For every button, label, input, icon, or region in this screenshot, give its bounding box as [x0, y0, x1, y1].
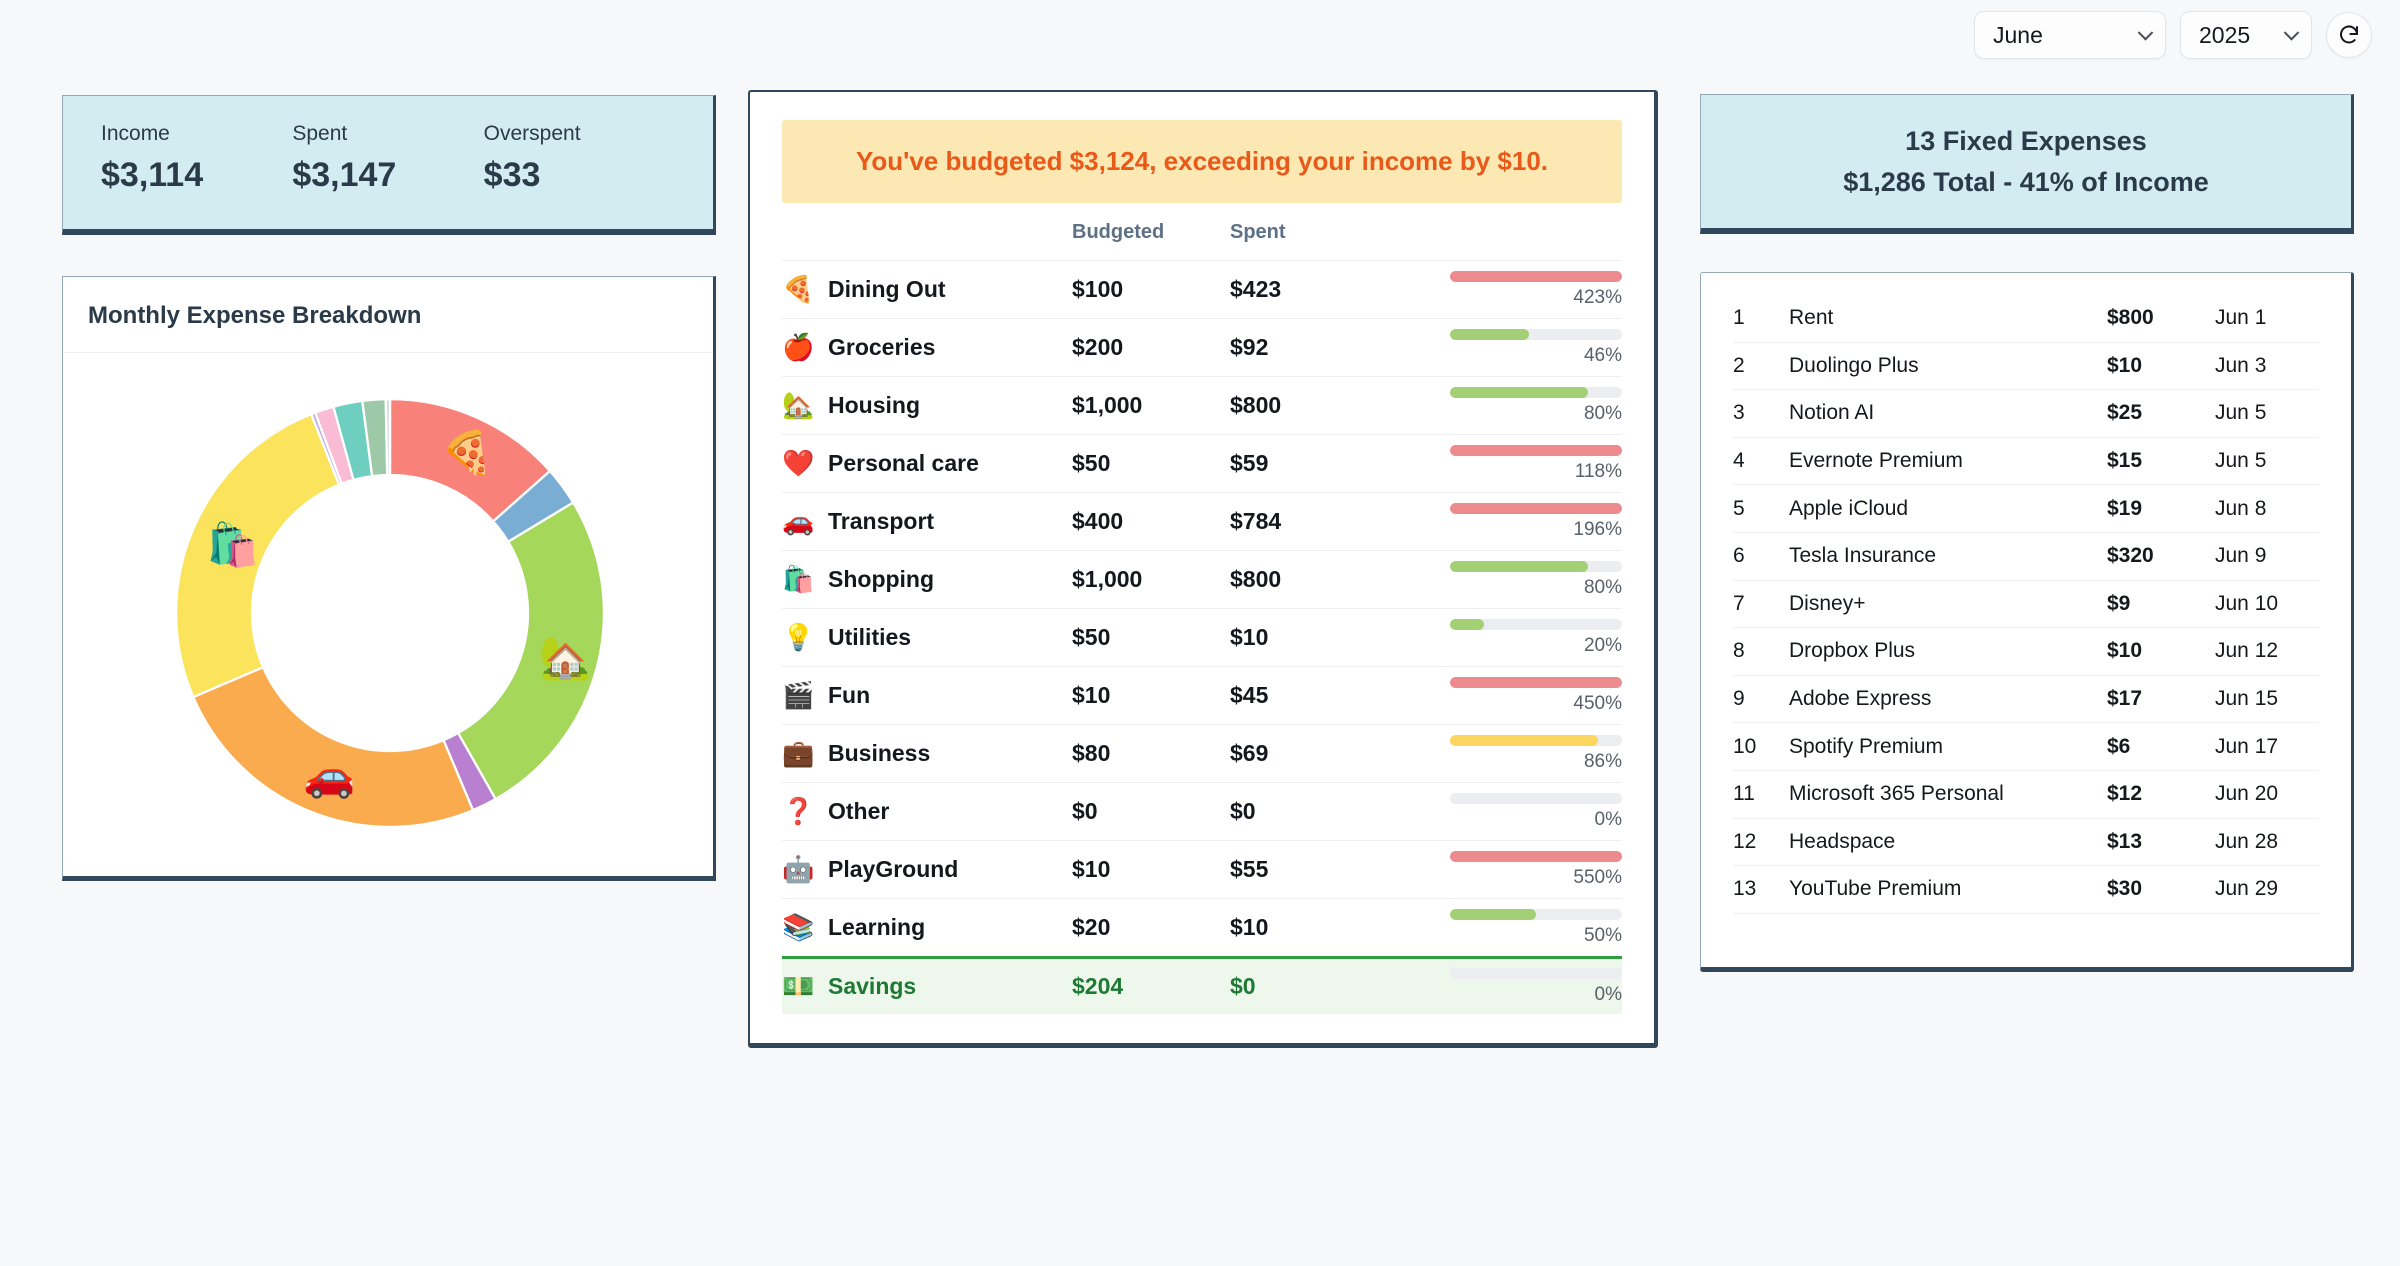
fixed-expense-index: 13: [1733, 877, 1789, 901]
category-name: Dining Out: [828, 276, 1072, 303]
budget-panel: You've budgeted $3,124, exceeding your i…: [748, 90, 1658, 1048]
fixed-expense-index: 5: [1733, 497, 1789, 521]
budgeted-amount: $50: [1072, 624, 1230, 651]
fixed-expense-date: Jun 29: [2215, 877, 2319, 901]
budget-row[interactable]: 📚Learning$20$1050%: [782, 898, 1622, 956]
expense-breakdown-card: Monthly Expense Breakdown 🍕 🏡 🚗 🛍️: [62, 276, 716, 881]
fixed-expense-row[interactable]: 13YouTube Premium$30Jun 29: [1733, 866, 2319, 914]
summary-card: Income $3,114 Spent $3,147 Overspent $33: [62, 95, 716, 235]
summary-spent-value: $3,147: [292, 156, 483, 195]
fixed-expense-date: Jun 17: [2215, 735, 2319, 759]
progress-percent: 46%: [1584, 345, 1622, 367]
fixed-expense-amount: $19: [2107, 497, 2215, 521]
category-icon: 🎬: [782, 680, 814, 710]
category-icon: 🍎: [782, 332, 814, 362]
budget-row[interactable]: 🍎Groceries$200$9246%: [782, 318, 1622, 376]
summary-spent-label: Spent: [292, 118, 483, 150]
fixed-expense-index: 2: [1733, 354, 1789, 378]
budgeted-amount: $10: [1072, 682, 1230, 709]
progress-bar: [1450, 619, 1622, 630]
progress-bar: [1450, 329, 1622, 340]
progress-percent: 118%: [1575, 461, 1622, 483]
spent-amount: $45: [1230, 682, 1388, 709]
progress-bar-fill: [1450, 619, 1484, 630]
fixed-expense-row[interactable]: 4Evernote Premium$15Jun 5: [1733, 438, 2319, 486]
budget-row-list: 🍕Dining Out$100$423423%🍎Groceries$200$92…: [782, 260, 1622, 1014]
fixed-expense-amount: $10: [2107, 639, 2215, 663]
summary-overspent-label: Overspent: [484, 118, 675, 150]
category-name: Learning: [828, 914, 1072, 941]
fixed-expense-name: Dropbox Plus: [1789, 639, 2107, 663]
budget-row[interactable]: 🏡Housing$1,000$80080%: [782, 376, 1622, 434]
spent-amount: $423: [1230, 276, 1388, 303]
fixed-expense-name: Evernote Premium: [1789, 449, 2107, 473]
progress-bar-fill: [1450, 561, 1588, 572]
category-name: Transport: [828, 508, 1072, 535]
fixed-expense-date: Jun 5: [2215, 449, 2319, 473]
progress-bar-fill: [1450, 387, 1588, 398]
progress-bar-fill: [1450, 503, 1622, 514]
budget-row[interactable]: ❓Other$0$00%: [782, 782, 1622, 840]
fixed-expense-name: Notion AI: [1789, 401, 2107, 425]
fixed-expense-name: YouTube Premium: [1789, 877, 2107, 901]
progress-bar: [1450, 968, 1622, 979]
fixed-expense-amount: $13: [2107, 830, 2215, 854]
progress-bar-fill: [1450, 445, 1622, 456]
budgeted-amount: $100: [1072, 276, 1230, 303]
budget-row[interactable]: 🛍️Shopping$1,000$80080%: [782, 550, 1622, 608]
progress-percent: 80%: [1584, 403, 1622, 425]
fixed-expense-row[interactable]: 6Tesla Insurance$320Jun 9: [1733, 533, 2319, 581]
budgeted-amount: $204: [1072, 973, 1230, 1000]
progress-percent: 0%: [1595, 984, 1622, 1006]
progress-bar: [1450, 677, 1622, 688]
budget-row[interactable]: 🚗Transport$400$784196%: [782, 492, 1622, 550]
column-header-spent: Spent: [1230, 221, 1388, 244]
progress-percent: 80%: [1584, 577, 1622, 599]
fixed-expense-row[interactable]: 8Dropbox Plus$10Jun 12: [1733, 628, 2319, 676]
budgeted-amount: $20: [1072, 914, 1230, 941]
fixed-expense-amount: $15: [2107, 449, 2215, 473]
fixed-expenses-count: 13 Fixed Expenses: [1905, 126, 2147, 157]
fixed-expense-name: Spotify Premium: [1789, 735, 2107, 759]
budget-row[interactable]: 🎬Fun$10$45450%: [782, 666, 1622, 724]
category-icon: 🤖: [782, 854, 814, 884]
spent-amount: $59: [1230, 450, 1388, 477]
budget-row[interactable]: 🍕Dining Out$100$423423%: [782, 260, 1622, 318]
progress-bar-fill: [1450, 735, 1598, 746]
summary-income-label: Income: [101, 118, 292, 150]
progress-bar: [1450, 445, 1622, 456]
donut-label-shopping-icon: 🛍️: [207, 524, 259, 566]
progress-bar: [1450, 851, 1622, 862]
summary-overspent-value: $33: [484, 156, 675, 195]
budgeted-amount: $1,000: [1072, 392, 1230, 419]
spent-amount: $10: [1230, 624, 1388, 651]
category-icon: 💵: [782, 971, 814, 1001]
budgeted-amount: $10: [1072, 856, 1230, 883]
budgeted-amount: $1,000: [1072, 566, 1230, 593]
category-name: Savings: [828, 973, 1072, 1000]
fixed-expense-date: Jun 1: [2215, 306, 2319, 330]
progress-percent: 86%: [1584, 751, 1622, 773]
fixed-expense-index: 4: [1733, 449, 1789, 473]
category-name: Fun: [828, 682, 1072, 709]
chevron-down-icon: [2138, 25, 2154, 41]
fixed-expense-name: Apple iCloud: [1789, 497, 2107, 521]
fixed-expense-date: Jun 9: [2215, 544, 2319, 568]
category-icon: 🛍️: [782, 564, 814, 594]
fixed-expense-row[interactable]: 3Notion AI$25Jun 5: [1733, 390, 2319, 438]
progress-bar-fill: [1450, 851, 1622, 862]
category-name: Groceries: [828, 334, 1072, 361]
fixed-expense-amount: $9: [2107, 592, 2215, 616]
fixed-expense-index: 3: [1733, 401, 1789, 425]
progress-percent: 550%: [1573, 867, 1622, 889]
fixed-expense-row[interactable]: 5Apple iCloud$19Jun 8: [1733, 485, 2319, 533]
fixed-expense-date: Jun 3: [2215, 354, 2319, 378]
fixed-expense-index: 12: [1733, 830, 1789, 854]
fixed-expenses-summary: 13 Fixed Expenses $1,286 Total - 41% of …: [1700, 94, 2354, 234]
spent-amount: $0: [1230, 973, 1388, 1000]
budget-row[interactable]: 💼Business$80$6986%: [782, 724, 1622, 782]
donut-label-dining-out-icon: 🍕: [441, 432, 493, 474]
category-name: Personal care: [828, 450, 1072, 477]
fixed-expense-index: 1: [1733, 306, 1789, 330]
category-icon: 💼: [782, 738, 814, 768]
fixed-expense-amount: $800: [2107, 306, 2215, 330]
fixed-expense-date: Jun 28: [2215, 830, 2319, 854]
budgeted-amount: $0: [1072, 798, 1230, 825]
budget-row[interactable]: 💡Utilities$50$1020%: [782, 608, 1622, 666]
budget-table-header: Budgeted Spent: [782, 221, 1622, 260]
fixed-expense-name: Headspace: [1789, 830, 2107, 854]
progress-percent: 50%: [1584, 925, 1622, 947]
progress-percent: 450%: [1573, 693, 1622, 715]
progress-bar-fill: [1450, 909, 1536, 920]
donut-label-housing-icon: 🏡: [539, 637, 591, 679]
fixed-expense-date: Jun 15: [2215, 687, 2319, 711]
progress-bar: [1450, 793, 1622, 804]
spent-amount: $10: [1230, 914, 1388, 941]
progress-percent: 196%: [1573, 519, 1622, 541]
donut-slice: [386, 399, 390, 475]
fixed-expense-name: Disney+: [1789, 592, 2107, 616]
fixed-expense-date: Jun 8: [2215, 497, 2319, 521]
category-name: Housing: [828, 392, 1072, 419]
spent-amount: $55: [1230, 856, 1388, 883]
budgeted-amount: $400: [1072, 508, 1230, 535]
fixed-expense-name: Microsoft 365 Personal: [1789, 782, 2107, 806]
fixed-expense-row[interactable]: 2Duolingo Plus$10Jun 3: [1733, 343, 2319, 391]
budgeted-amount: $80: [1072, 740, 1230, 767]
column-header-budgeted: Budgeted: [1072, 221, 1230, 244]
budget-row[interactable]: 💵Savings$204$00%: [782, 956, 1622, 1014]
progress-bar-fill: [1450, 271, 1622, 282]
fixed-expense-index: 9: [1733, 687, 1789, 711]
budget-table: Budgeted Spent 🍕Dining Out$100$423423%🍎G…: [750, 221, 1654, 1014]
summary-income-value: $3,114: [101, 156, 292, 195]
fixed-expenses-row-list: 1Rent$800Jun 12Duolingo Plus$10Jun 33Not…: [1733, 295, 2319, 914]
donut-chart-svg: [160, 383, 620, 843]
fixed-expense-amount: $12: [2107, 782, 2215, 806]
progress-bar: [1450, 503, 1622, 514]
refresh-button[interactable]: [2326, 12, 2372, 58]
category-name: Utilities: [828, 624, 1072, 651]
fixed-expense-row[interactable]: 9Adobe Express$17Jun 15: [1733, 676, 2319, 724]
fixed-expense-index: 10: [1733, 735, 1789, 759]
year-select-value: 2025: [2199, 22, 2250, 49]
fixed-expense-row[interactable]: 10Spotify Premium$6Jun 17: [1733, 723, 2319, 771]
budget-alert-banner: You've budgeted $3,124, exceeding your i…: [782, 120, 1622, 203]
category-name: Shopping: [828, 566, 1072, 593]
category-icon: 🚗: [782, 506, 814, 536]
category-name: Business: [828, 740, 1072, 767]
fixed-expense-date: Jun 5: [2215, 401, 2319, 425]
summary-income: Income $3,114: [101, 118, 292, 195]
spent-amount: $69: [1230, 740, 1388, 767]
donut-slice: [193, 667, 473, 827]
fixed-expense-name: Duolingo Plus: [1789, 354, 2107, 378]
fixed-expense-amount: $10: [2107, 354, 2215, 378]
chevron-down-icon: [2284, 25, 2300, 41]
progress-bar: [1450, 271, 1622, 282]
fixed-expense-index: 6: [1733, 544, 1789, 568]
donut-chart: 🍕 🏡 🚗 🛍️: [63, 353, 717, 873]
category-icon: 📚: [782, 912, 814, 942]
category-icon: 🏡: [782, 390, 814, 420]
budget-row[interactable]: ❤️Personal care$50$59118%: [782, 434, 1622, 492]
progress-percent: 20%: [1584, 635, 1622, 657]
fixed-expenses-list: 1Rent$800Jun 12Duolingo Plus$10Jun 33Not…: [1700, 272, 2354, 972]
progress-bar: [1450, 387, 1622, 398]
progress-bar-fill: [1450, 677, 1622, 688]
spent-amount: $92: [1230, 334, 1388, 361]
year-select[interactable]: 2025: [2180, 11, 2312, 59]
fixed-expense-row[interactable]: 7Disney+$9Jun 10: [1733, 581, 2319, 629]
fixed-expense-amount: $17: [2107, 687, 2215, 711]
progress-percent: 0%: [1595, 809, 1622, 831]
fixed-expense-amount: $320: [2107, 544, 2215, 568]
summary-spent: Spent $3,147: [292, 118, 483, 195]
fixed-expense-row[interactable]: 12Headspace$13Jun 28: [1733, 819, 2319, 867]
fixed-expenses-total: $1,286 Total - 41% of Income: [1843, 167, 2209, 198]
fixed-expense-index: 8: [1733, 639, 1789, 663]
spent-amount: $0: [1230, 798, 1388, 825]
category-icon: 🍕: [782, 274, 814, 304]
fixed-expense-row[interactable]: 11Microsoft 365 Personal$12Jun 20: [1733, 771, 2319, 819]
category-name: Other: [828, 798, 1072, 825]
progress-bar-fill: [1450, 329, 1529, 340]
month-select-value: June: [1993, 22, 2043, 49]
category-icon: 💡: [782, 622, 814, 652]
spent-amount: $800: [1230, 566, 1388, 593]
toolbar: June 2025: [0, 0, 2400, 70]
month-select[interactable]: June: [1974, 11, 2166, 59]
summary-overspent: Overspent $33: [484, 118, 675, 195]
fixed-expense-index: 7: [1733, 592, 1789, 616]
progress-bar: [1450, 735, 1622, 746]
spent-amount: $784: [1230, 508, 1388, 535]
spent-amount: $800: [1230, 392, 1388, 419]
fixed-expense-date: Jun 12: [2215, 639, 2319, 663]
fixed-expense-row[interactable]: 1Rent$800Jun 1: [1733, 295, 2319, 343]
refresh-icon: [2337, 23, 2361, 47]
chart-title: Monthly Expense Breakdown: [63, 277, 713, 353]
fixed-expense-date: Jun 20: [2215, 782, 2319, 806]
budgeted-amount: $200: [1072, 334, 1230, 361]
donut-label-transport-icon: 🚗: [303, 755, 355, 797]
category-icon: ❤️: [782, 448, 814, 478]
progress-percent: 423%: [1573, 287, 1622, 309]
progress-bar: [1450, 561, 1622, 572]
fixed-expense-name: Rent: [1789, 306, 2107, 330]
budgeted-amount: $50: [1072, 450, 1230, 477]
progress-bar: [1450, 909, 1622, 920]
fixed-expense-name: Tesla Insurance: [1789, 544, 2107, 568]
fixed-expense-date: Jun 10: [2215, 592, 2319, 616]
fixed-expense-name: Adobe Express: [1789, 687, 2107, 711]
fixed-expense-index: 11: [1733, 782, 1789, 806]
budget-row[interactable]: 🤖PlayGround$10$55550%: [782, 840, 1622, 898]
category-name: PlayGround: [828, 856, 1072, 883]
fixed-expense-amount: $30: [2107, 877, 2215, 901]
category-icon: ❓: [782, 796, 814, 826]
fixed-expense-amount: $25: [2107, 401, 2215, 425]
fixed-expense-amount: $6: [2107, 735, 2215, 759]
